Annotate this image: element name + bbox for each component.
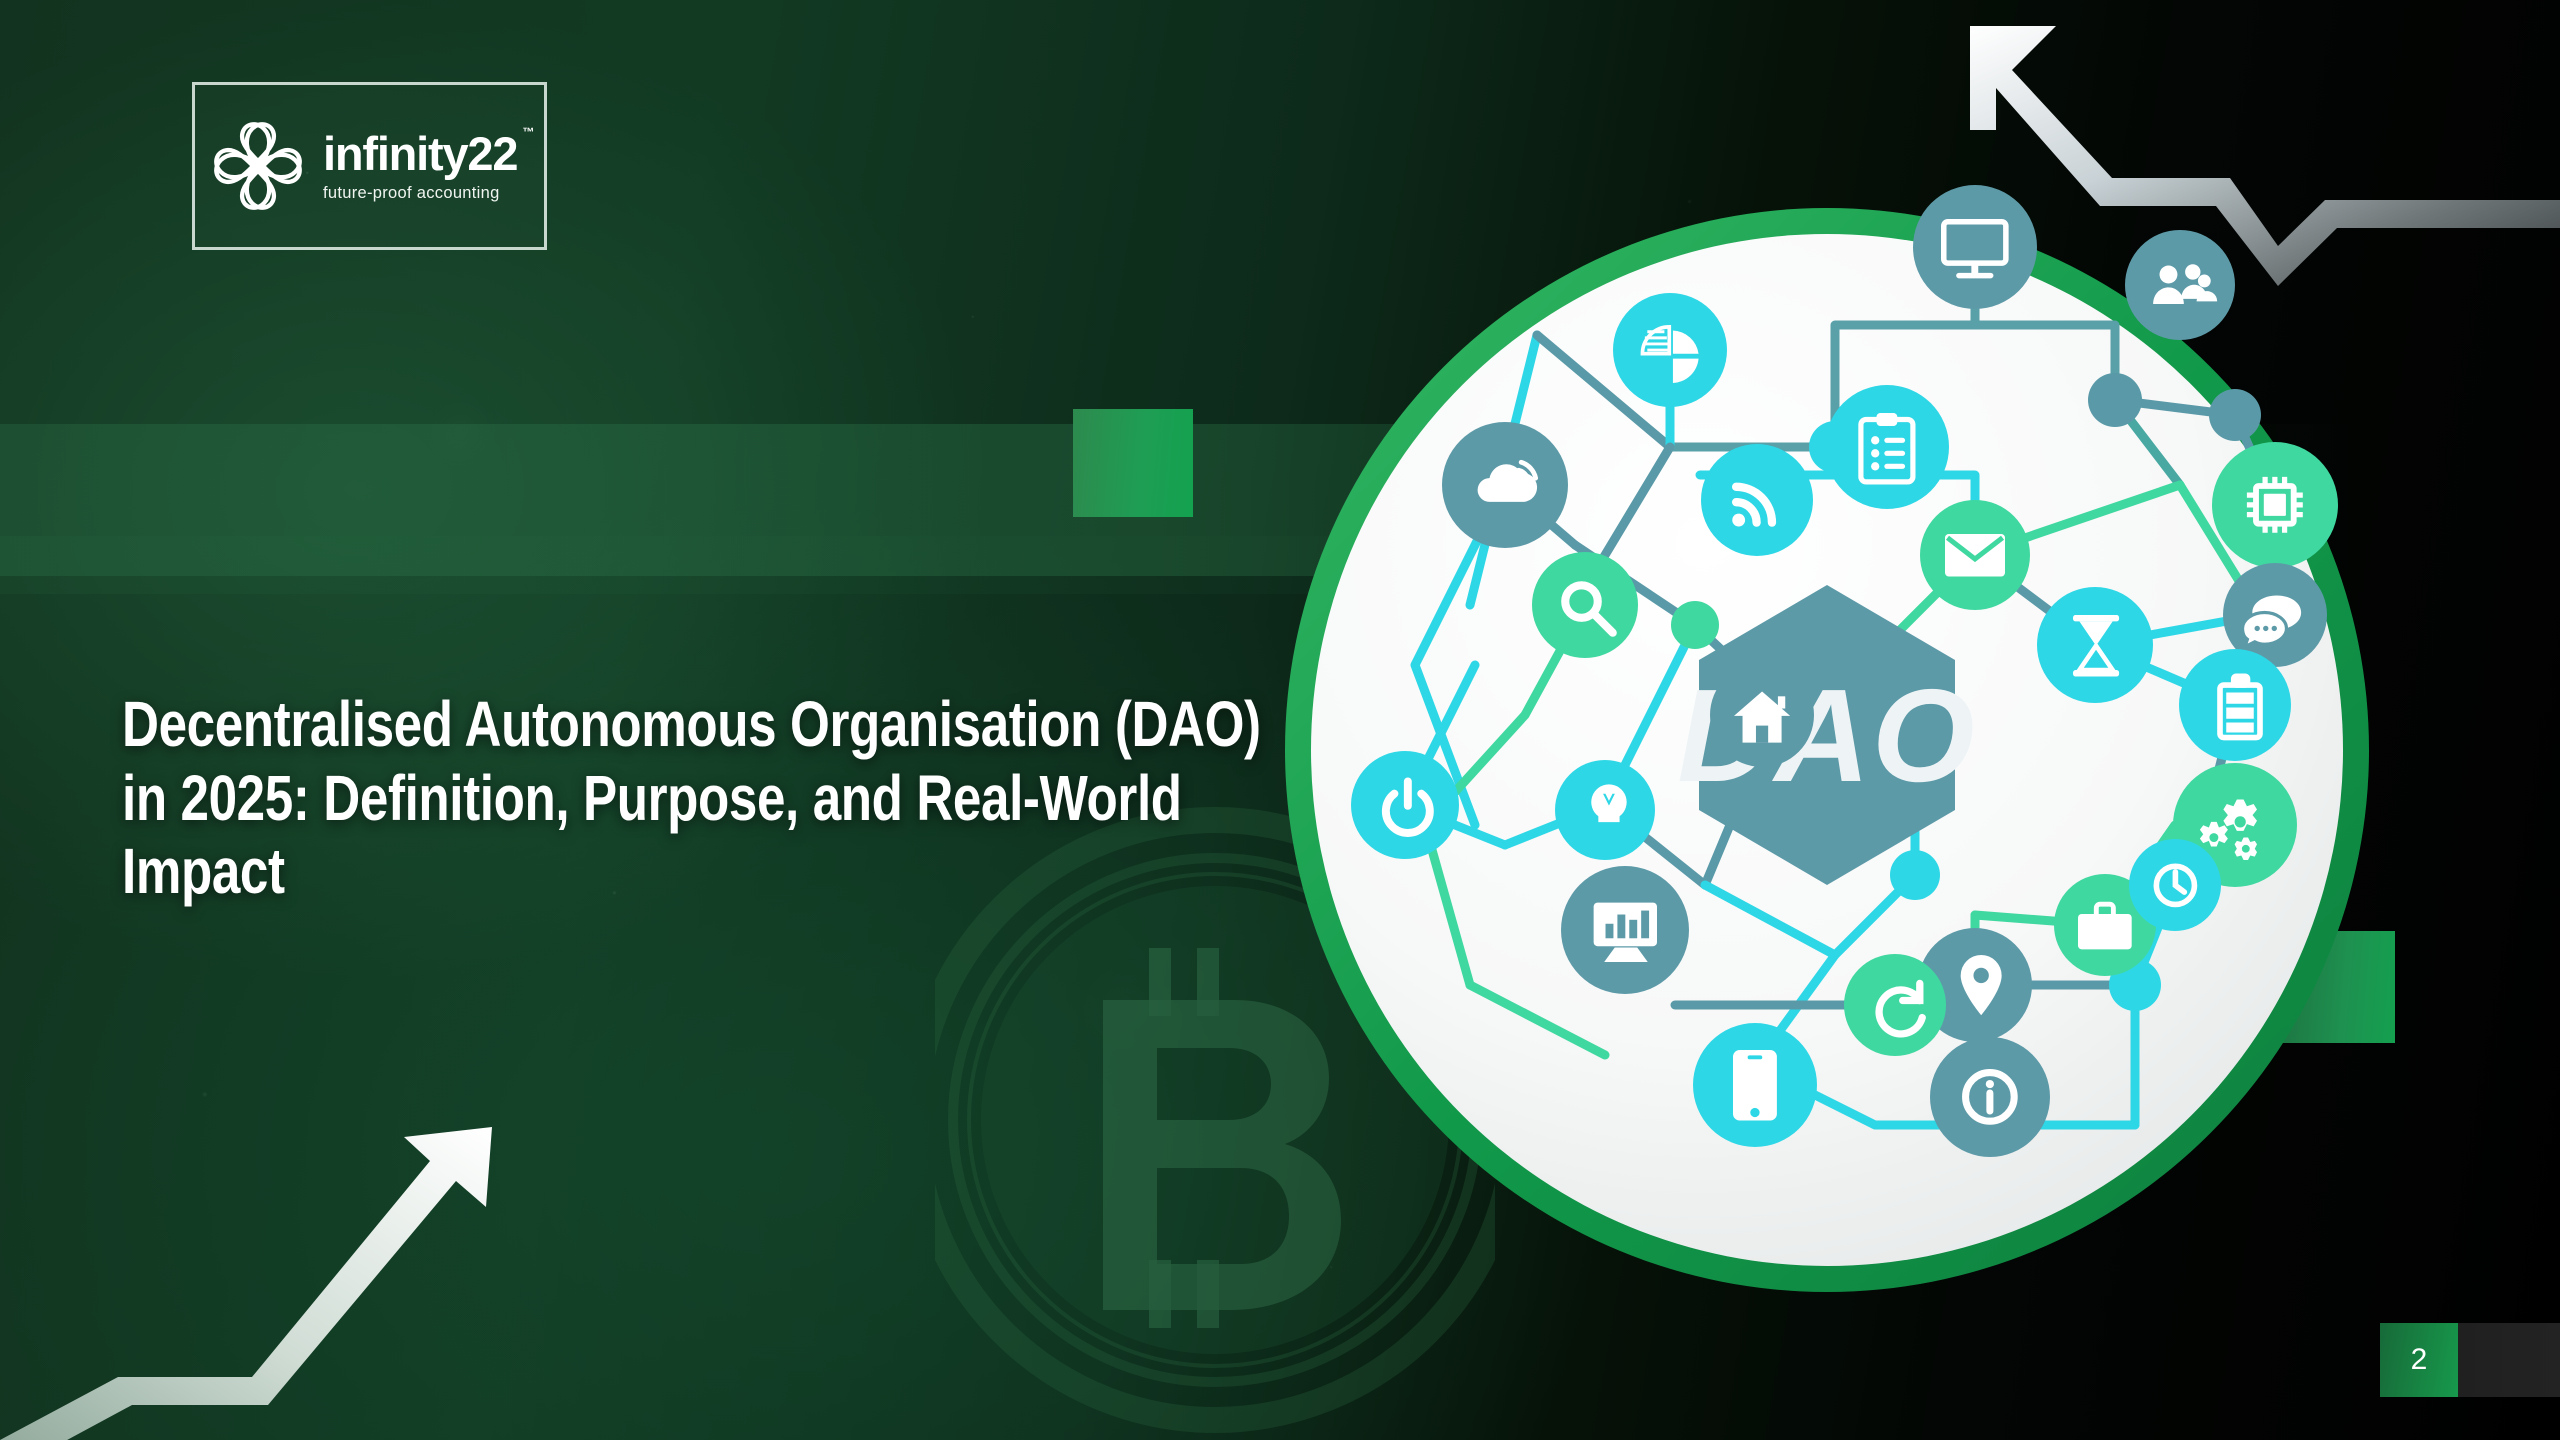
slide-canvas: infinity22™ future-proof accounting Dece… (0, 0, 2560, 1440)
brand-name-label: infinity22 (323, 127, 517, 180)
trend-arrow-up-right-icon (0, 1085, 560, 1440)
dao-network-illustration: DAO (1275, 185, 2380, 1315)
brand-name: infinity22™ (323, 130, 517, 177)
brand-logo[interactable]: infinity22™ future-proof accounting (192, 82, 547, 250)
brand-tagline: future-proof accounting (323, 184, 517, 203)
infinity-knot-icon (209, 110, 307, 222)
page-number-badge: 2 (2380, 1323, 2458, 1397)
brand-logo-text: infinity22™ future-proof accounting (323, 130, 517, 203)
page-title: Decentralised Autonomous Organisation (D… (122, 688, 1306, 909)
green-square-accent-middle (1073, 409, 1193, 517)
trademark-mark: ™ (523, 126, 534, 138)
